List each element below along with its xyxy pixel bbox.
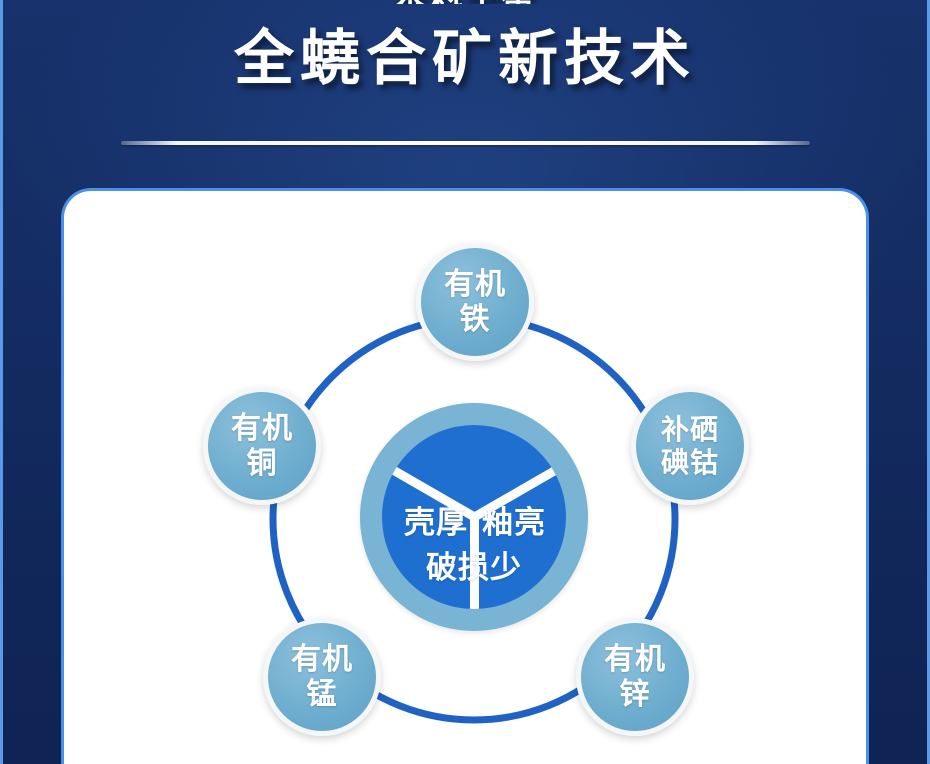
header: 泰科全蛋 全蟯合矿新技术 — [0, 0, 930, 160]
node-label-line-1: 补硒 — [661, 413, 719, 446]
hub-circle: 壳厚 釉亮 破损少 — [360, 403, 588, 631]
hub-segment-left: 壳厚 — [404, 497, 468, 542]
hub-inner-circle: 壳厚 釉亮 破损少 — [382, 425, 566, 609]
radial-diagram: 壳厚 釉亮 破损少 有机 铁 补硒 碘钴 有机 锌 有机 锰 有机 铜 — [64, 191, 869, 764]
node-label-line-1: 有机 — [231, 411, 293, 446]
node-label-line-2: 铁 — [460, 302, 491, 337]
node-label-line-1: 有机 — [444, 267, 506, 302]
node-label-line-2: 碘钴 — [661, 446, 719, 479]
node-label-line-2: 锰 — [307, 677, 338, 712]
title-overflow-line: 泰科全蛋 — [0, 0, 930, 4]
node-label-line-1: 有机 — [604, 642, 666, 677]
node-organic-manganese[interactable]: 有机 锰 — [263, 618, 381, 736]
node-organic-iron[interactable]: 有机 铁 — [416, 243, 534, 361]
hub-segment-right: 釉亮 — [482, 497, 546, 542]
node-label-line-2: 锌 — [620, 677, 651, 712]
node-selenium-iodine-cobalt[interactable]: 补硒 碘钴 — [631, 387, 749, 505]
node-organic-copper[interactable]: 有机 铜 — [203, 387, 321, 505]
header-divider — [121, 141, 810, 145]
node-organic-zinc[interactable]: 有机 锌 — [576, 618, 694, 736]
node-label-line-2: 铜 — [247, 446, 278, 481]
hub-segment-bottom: 破损少 — [426, 542, 522, 587]
content-card: 壳厚 釉亮 破损少 有机 铁 补硒 碘钴 有机 锌 有机 锰 有机 铜 — [61, 188, 869, 764]
page-title: 全蟯合矿新技术 — [0, 26, 930, 92]
node-label-line-1: 有机 — [291, 642, 353, 677]
